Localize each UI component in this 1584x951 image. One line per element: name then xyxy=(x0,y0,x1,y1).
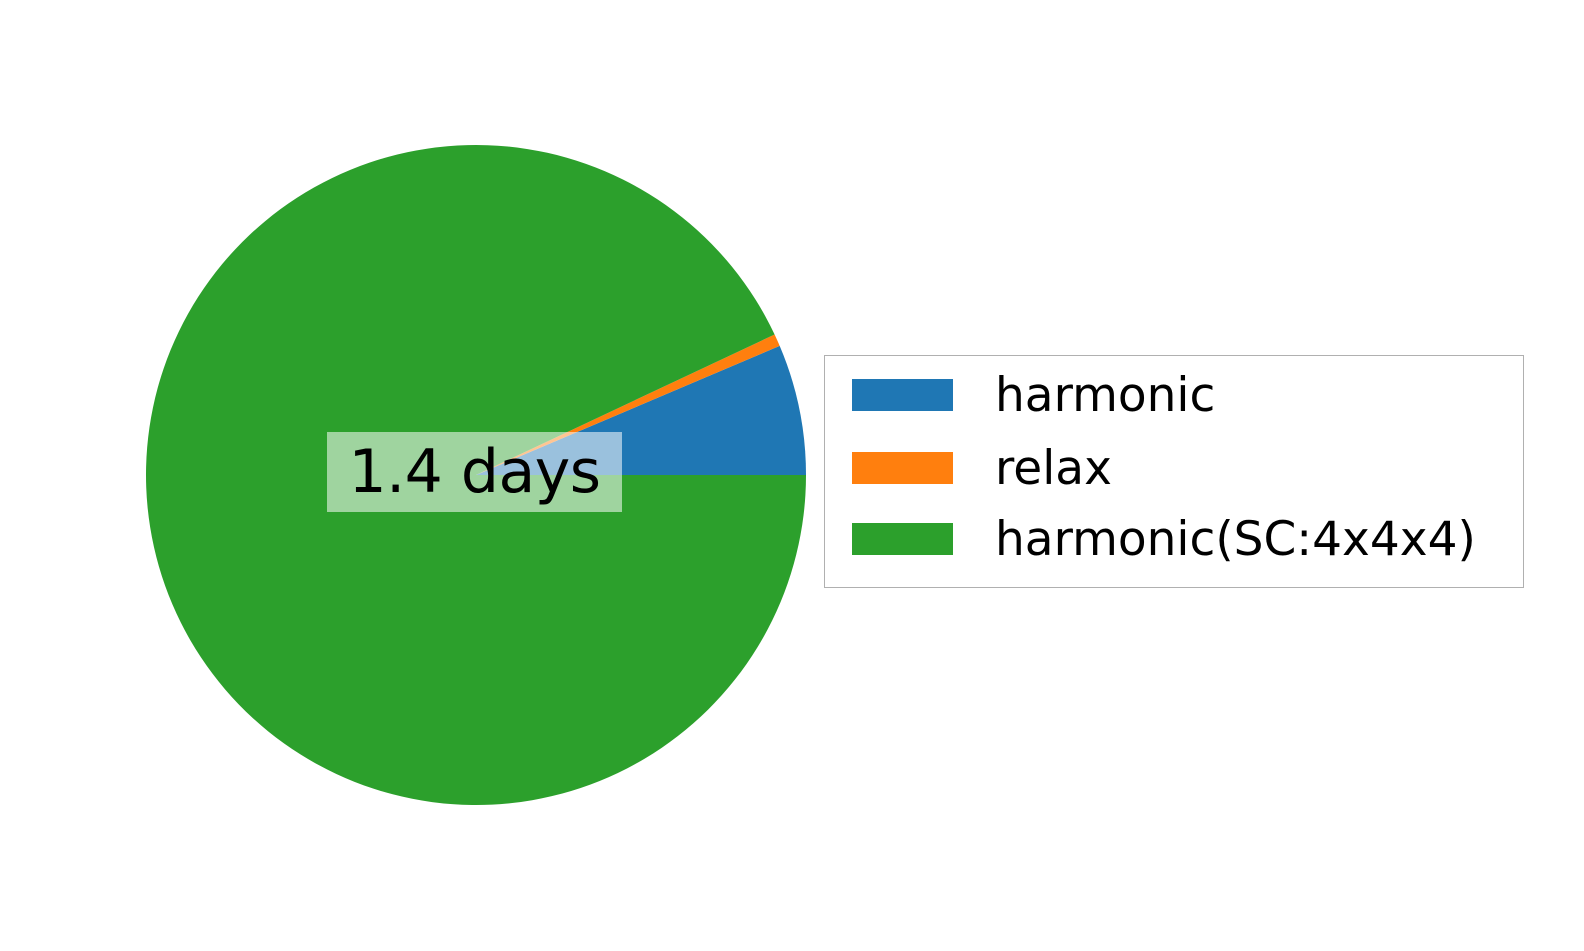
legend: harmonic relax harmonic(SC:4x4x4) xyxy=(824,355,1524,588)
pie-slice-label-harmonic: 1.4 days xyxy=(327,432,622,512)
legend-item-relax[interactable]: relax xyxy=(852,443,1112,493)
legend-label-harmonic-sc-4x4x4: harmonic(SC:4x4x4) xyxy=(995,516,1476,563)
legend-swatch-harmonic-sc-4x4x4 xyxy=(852,523,953,555)
legend-swatch-relax xyxy=(852,452,953,484)
legend-item-harmonic[interactable]: harmonic xyxy=(852,370,1215,420)
legend-item-harmonic-sc-4x4x4[interactable]: harmonic(SC:4x4x4) xyxy=(852,514,1476,564)
legend-label-harmonic: harmonic xyxy=(995,372,1215,419)
pie-chart-figure: 1.4 days harmonic relax harmonic(SC:4x4x… xyxy=(0,0,1584,951)
legend-swatch-harmonic xyxy=(852,379,953,411)
legend-rows: harmonic relax harmonic(SC:4x4x4) xyxy=(825,356,1523,587)
legend-label-relax: relax xyxy=(995,445,1112,492)
